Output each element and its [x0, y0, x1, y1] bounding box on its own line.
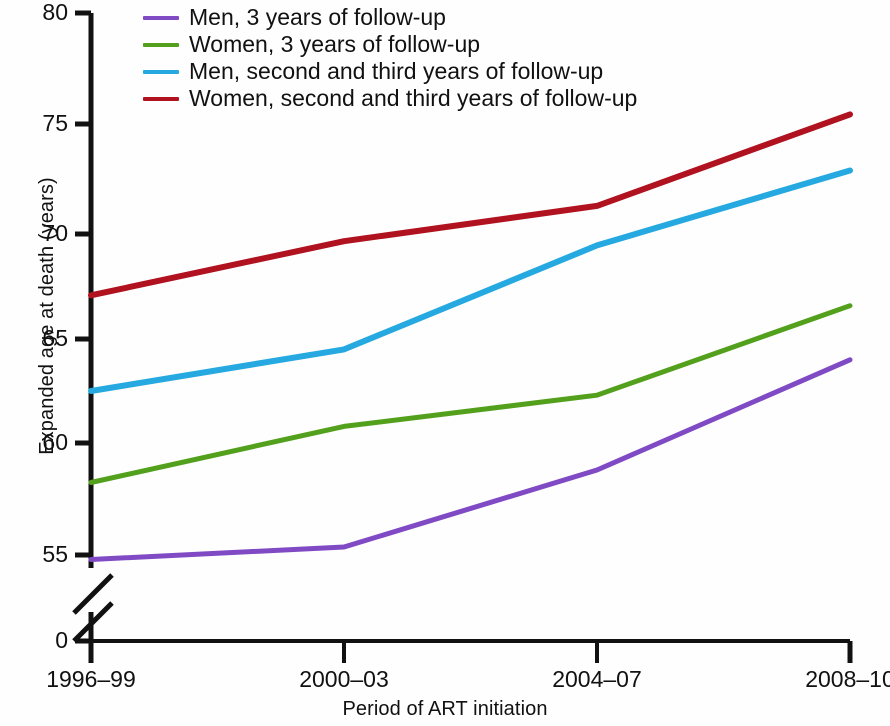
legend-item-label: Women, 3 years of follow-up	[189, 33, 480, 56]
series-lines	[91, 114, 850, 559]
x-axis-tick-label: 2000–03	[269, 666, 419, 693]
y-axis-tick-label: 80	[0, 0, 68, 26]
legend-line-swatch-icon	[143, 16, 179, 20]
legend-line-swatch-icon	[143, 97, 179, 101]
x-axis-tick-label: 2004–07	[522, 666, 672, 693]
series-line-men-second-third-years	[91, 171, 850, 392]
y-axis-title-wrapper: Expanded age at death (years)	[36, 166, 59, 466]
x-axis-title: Period of ART initiation	[342, 698, 547, 721]
legend-item-label: Women, second and third years of follow-…	[189, 87, 637, 110]
legend-line-swatch-icon	[143, 70, 179, 74]
legend-item[interactable]: Men, second and third years of follow-up	[143, 58, 637, 85]
legend-line-swatch-icon	[143, 43, 179, 47]
legend-item[interactable]: Men, 3 years of follow-up	[143, 4, 637, 31]
x-axis-tick-label: 2008–10	[775, 666, 890, 693]
legend-item-label: Men, second and third years of follow-up	[189, 60, 603, 83]
y-axis-title: Expanded age at death (years)	[36, 177, 59, 455]
legend-item-label: Men, 3 years of follow-up	[189, 6, 446, 29]
x-axis-tick-label: 1996–99	[16, 666, 166, 693]
y-axis-tick-label: 75	[0, 110, 68, 137]
series-line-women-3-years	[91, 306, 850, 483]
x-axis-title-wrapper: Period of ART initiation	[0, 698, 890, 721]
chart-figure: 80 75 70 65 60 55 0 1996–99 2000–03 2004…	[0, 0, 890, 726]
legend-item[interactable]: Women, 3 years of follow-up	[143, 31, 637, 58]
chart-legend: Men, 3 years of follow-up Women, 3 years…	[143, 4, 637, 112]
y-axis-tick-label: 55	[0, 541, 68, 568]
y-axis-tick-label: 0	[0, 627, 68, 654]
legend-item[interactable]: Women, second and third years of follow-…	[143, 85, 637, 112]
